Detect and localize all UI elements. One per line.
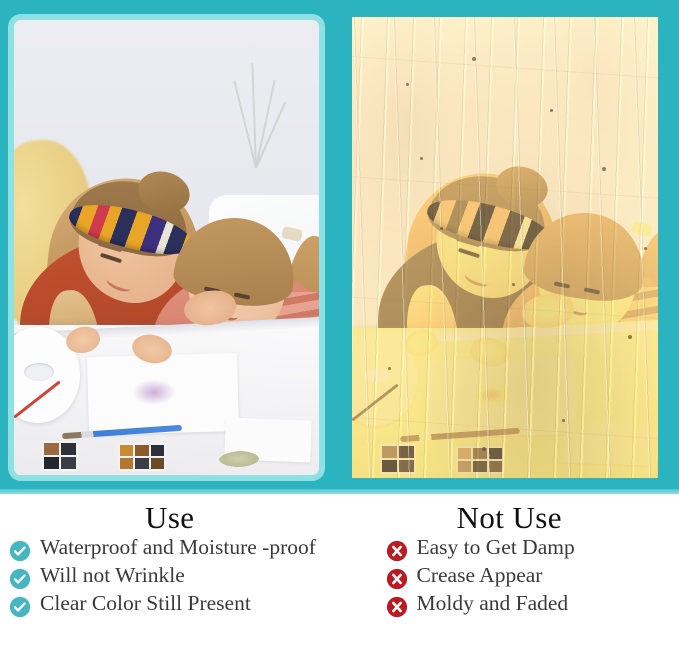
- list-item: Clear Color Still Present: [0, 592, 340, 618]
- photo-comparison-band: [0, 0, 679, 494]
- comparison-lists: Use Waterproof and Moisture -proof Will …: [0, 494, 679, 667]
- paint-pans: [42, 441, 78, 471]
- use-list: Waterproof and Moisture -proof Will not …: [0, 536, 340, 618]
- x-circle-icon: [386, 596, 408, 618]
- drawing-paper: [87, 353, 239, 435]
- list-item-label: Will not Wrinkle: [40, 564, 185, 587]
- check-circle-icon: [9, 540, 31, 562]
- damaged-photo: [352, 17, 658, 478]
- check-circle-icon: [9, 568, 31, 590]
- use-column: Use Waterproof and Moisture -proof Will …: [0, 494, 340, 667]
- list-item: Will not Wrinkle: [0, 564, 340, 590]
- plant-decor: [223, 48, 293, 168]
- x-circle-icon: [386, 540, 408, 562]
- table-surface: [14, 325, 319, 475]
- list-item: Moldy and Faded: [340, 592, 679, 618]
- list-item-label: Clear Color Still Present: [40, 592, 251, 615]
- list-item-label: Easy to Get Damp: [417, 536, 575, 559]
- good-condition-photo: [14, 20, 319, 475]
- list-item: Crease Appear: [340, 564, 679, 590]
- paint-pans-2: [118, 443, 166, 471]
- check-circle-icon: [9, 596, 31, 618]
- list-item: Waterproof and Moisture -proof: [0, 536, 340, 562]
- not-use-column: Not Use Easy to Get Damp Crease Appear: [340, 494, 679, 667]
- not-use-list: Easy to Get Damp Crease Appear Moldy and…: [340, 536, 679, 618]
- leaf-decor: [219, 451, 259, 467]
- list-item: Easy to Get Damp: [340, 536, 679, 562]
- damaged-photo-scene: [352, 17, 658, 478]
- not-use-heading: Not Use: [340, 494, 679, 533]
- good-condition-photo-frame: [8, 14, 325, 481]
- list-item-label: Waterproof and Moisture -proof: [40, 536, 316, 559]
- list-item-label: Crease Appear: [417, 564, 543, 587]
- use-heading: Use: [0, 494, 340, 533]
- x-circle-icon: [386, 568, 408, 590]
- comparison-infographic: Use Waterproof and Moisture -proof Will …: [0, 0, 679, 667]
- list-item-label: Moldy and Faded: [417, 592, 569, 615]
